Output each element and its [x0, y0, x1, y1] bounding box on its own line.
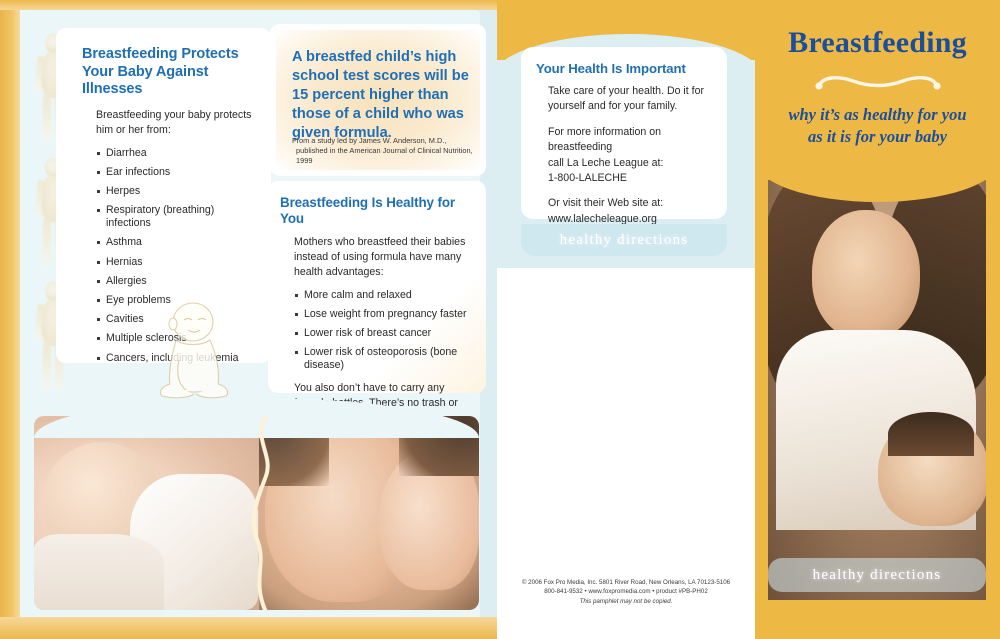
healthy-directions-text: healthy directions — [813, 567, 942, 584]
flourish-ornament-icon — [813, 72, 943, 94]
healthy-directions-logo-middle: healthy directions — [521, 224, 727, 256]
footer-line-1: © 2006 Fox Pro Media, Inc. 5801 River Ro… — [497, 578, 755, 587]
photo-nursing-baby — [34, 416, 259, 610]
your-health-card: Your Health Is Important Take care of yo… — [521, 47, 727, 219]
list-item: Asthma — [96, 236, 254, 249]
gold-top-edge — [0, 0, 497, 10]
health-heading: Your Health Is Important — [536, 61, 718, 77]
list-item: Lower risk of breast cancer — [294, 327, 470, 340]
footer-line-3: This pamphlet may not be copied. — [497, 597, 755, 606]
healthy-directions-text: healthy directions — [560, 232, 689, 249]
health-para-3-line-1: Or visit their Web site at: — [548, 196, 718, 211]
health-para-2-line-2: call La Leche League at: — [548, 156, 718, 171]
healthy-intro: Mothers who breastfeed their babies inst… — [294, 235, 470, 281]
healthy-heading: Breastfeeding Is Healthy for You — [280, 195, 470, 228]
footer-line-2: 800-841-9532 • www.foxpromedia.com • pro… — [497, 587, 755, 596]
list-item: Ear infections — [96, 166, 254, 179]
list-item: Herpes — [96, 185, 254, 198]
healthy-bullet-list: More calm and relaxed Lose weight from p… — [294, 289, 470, 372]
health-para-1: Take care of your health. Do it for your… — [548, 84, 708, 115]
illness-intro: Breastfeeding your baby protects him or … — [96, 108, 254, 139]
list-item: More calm and relaxed — [294, 289, 470, 302]
quote-card: A breastfed child’s high school test sco… — [270, 24, 486, 176]
list-item: Hernias — [96, 256, 254, 269]
s-curve-divider — [244, 416, 280, 610]
list-item: Lose weight from pregnancy faster — [294, 308, 470, 321]
gold-left-edge — [0, 0, 20, 639]
left-panel: Breastfeeding Protects Your Baby Against… — [0, 0, 497, 639]
health-para-2-line-1: For more information on breastfeeding — [548, 125, 718, 156]
cover-subtitle-line-1: why it’s as healthy for you — [755, 104, 1000, 126]
seated-baby-illustration-icon — [146, 300, 242, 400]
list-item: Diarrhea — [96, 147, 254, 160]
bottom-photo-strip — [34, 416, 479, 610]
citation-line-1: From a study led by James W. Anderson, M… — [292, 136, 488, 146]
list-item: Lower risk of osteoporosis (bone disease… — [294, 346, 470, 371]
photo-mother-and-newborn — [259, 416, 479, 610]
footer-credits: © 2006 Fox Pro Media, Inc. 5801 River Ro… — [497, 578, 755, 606]
brochure-page: Breastfeeding Protects Your Baby Against… — [0, 0, 1000, 639]
page-title: Breastfeeding — [755, 26, 1000, 60]
cover-subtitle: why it’s as healthy for you as it is for… — [755, 104, 1000, 149]
quote-card-inner: A breastfed child’s high school test sco… — [276, 30, 480, 170]
cover-subtitle-line-2: as it is for your baby — [755, 126, 1000, 148]
list-item: Allergies — [96, 275, 254, 288]
quote-text: A breastfed child’s high school test sco… — [292, 48, 472, 143]
list-item: Respiratory (breathing) infections — [96, 204, 254, 229]
citation-line-2: published in the American Journal of Cli… — [292, 146, 488, 166]
healthy-for-you-card: Breastfeeding Is Healthy for You Mothers… — [268, 181, 486, 393]
gold-bottom-edge — [0, 617, 497, 639]
illness-heading: Breastfeeding Protects Your Baby Against… — [82, 46, 254, 99]
cover-photo-mother-nursing — [768, 180, 986, 600]
la-leche-phone[interactable]: 1-800-LALECHE — [548, 171, 718, 186]
healthy-directions-logo-cover: healthy directions — [768, 558, 986, 592]
